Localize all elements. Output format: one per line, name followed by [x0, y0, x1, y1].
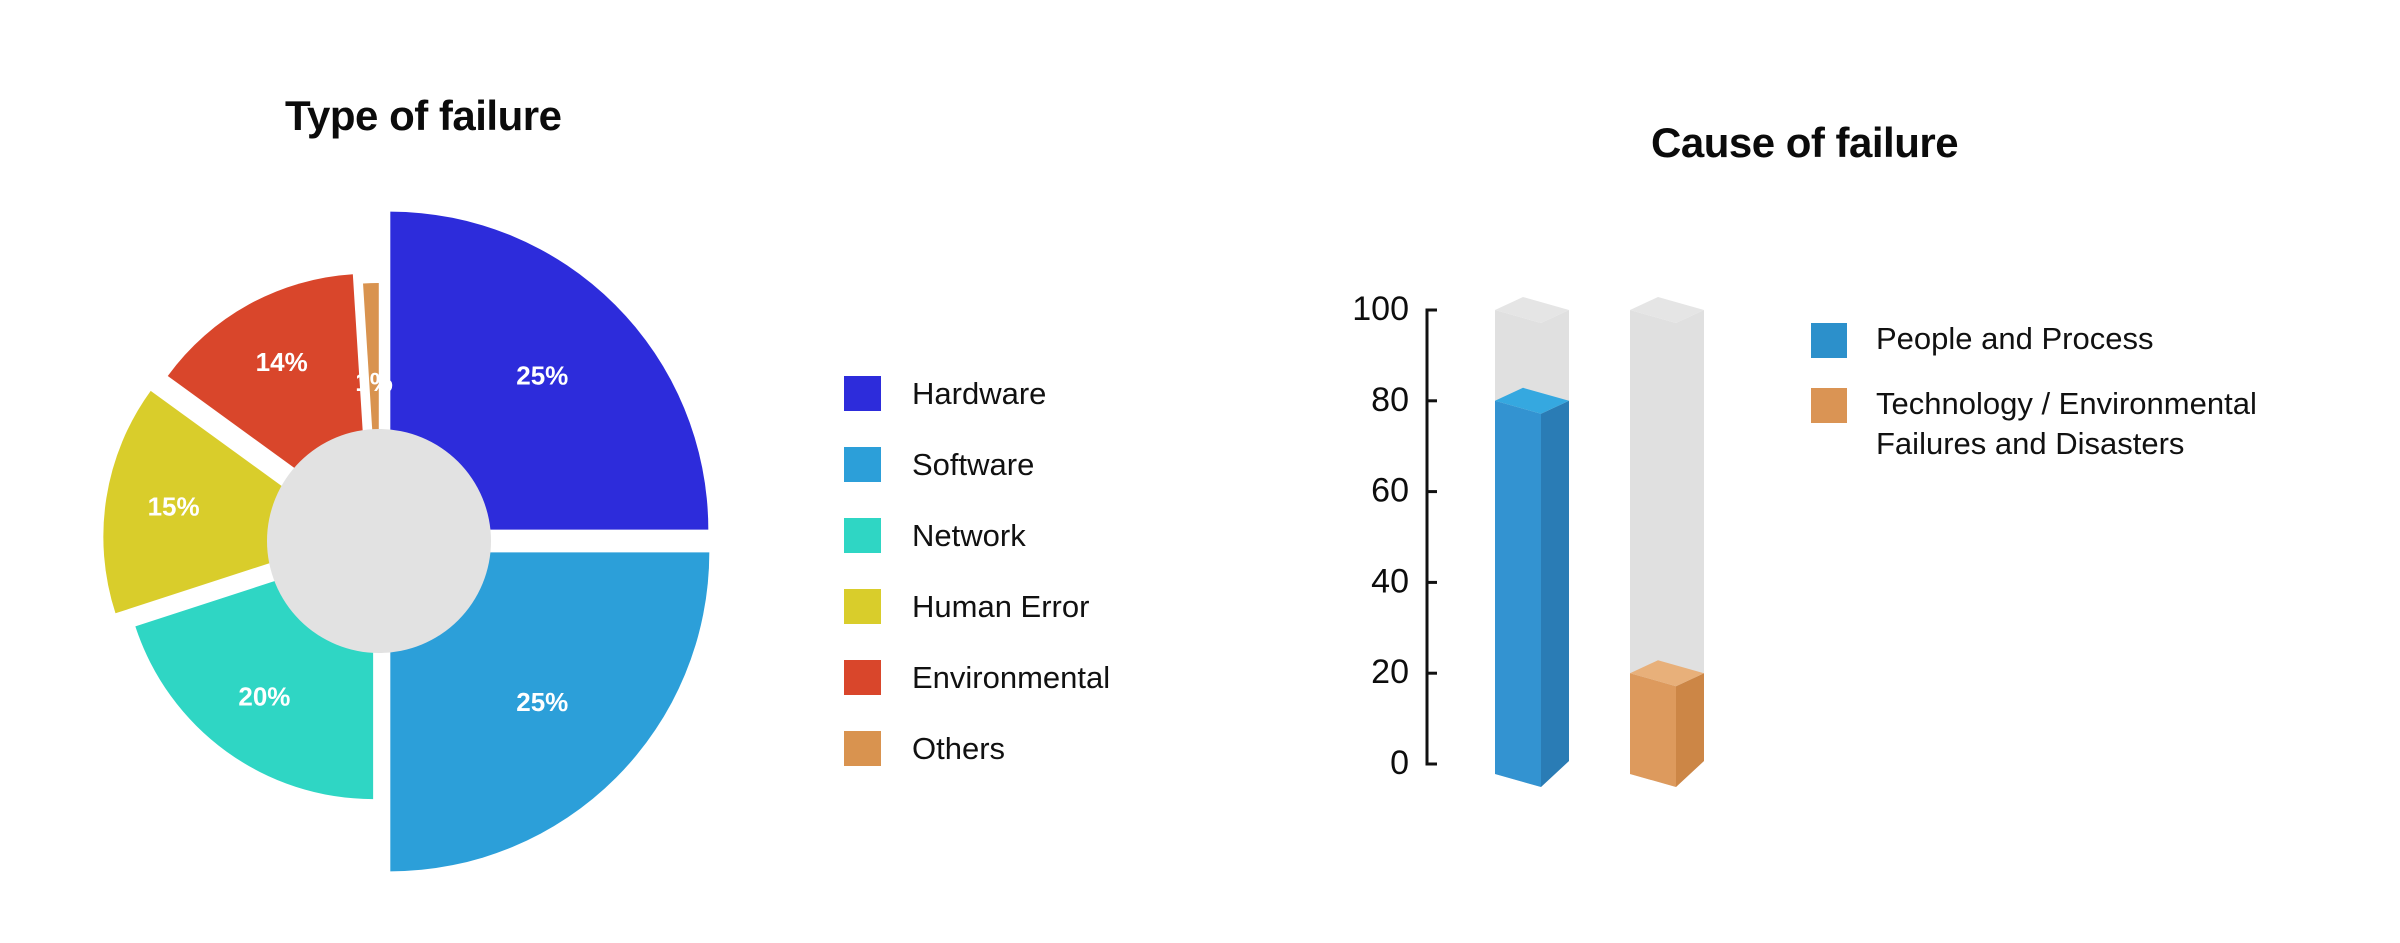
y-axis: [1427, 310, 1437, 764]
legend-label-software: Software: [912, 447, 1034, 483]
y-tick-label-60: 60: [1371, 472, 1409, 510]
legend-item-software[interactable]: Software: [844, 429, 1110, 500]
legend-swatch-software: [844, 447, 881, 482]
legend-item-others[interactable]: Others: [844, 713, 1110, 784]
legend-label-technology-environmental: Technology / Environmental Failures and …: [1876, 384, 2306, 463]
legend-item-environmental[interactable]: Environmental: [844, 642, 1110, 713]
legend-item-network[interactable]: Network: [844, 500, 1110, 571]
pie-slice-value-network: 20%: [238, 682, 290, 712]
y-tick-label-20: 20: [1371, 653, 1409, 691]
bar-legend: People and Process Technology / Environm…: [1811, 319, 2306, 489]
legend-item-hardware[interactable]: Hardware: [844, 358, 1110, 429]
bar-columns: [1495, 297, 1704, 787]
pie-slice-value-others: 1%: [355, 367, 393, 397]
y-tick-label-40: 40: [1371, 562, 1409, 600]
bar-value-1-side-face: [1541, 401, 1569, 787]
legend-label-people-and-process: People and Process: [1876, 319, 2153, 358]
legend-item-technology-environmental[interactable]: Technology / Environmental Failures and …: [1811, 384, 2306, 463]
legend-swatch-people-and-process: [1811, 323, 1847, 358]
y-axis-spine: [1427, 310, 1437, 764]
legend-swatch-technology-environmental: [1811, 388, 1847, 423]
pie-slice-value-hardware: 25%: [516, 361, 568, 391]
legend-swatch-environmental: [844, 660, 881, 695]
pie-slice-value-software: 25%: [516, 687, 568, 717]
type-of-failure-pie-chart: 25%25%20%15%14%1%: [0, 120, 860, 910]
y-tick-labels: 100806040200: [1352, 290, 1409, 782]
pie-legend: Hardware Software Network Human Error En…: [844, 358, 1110, 784]
bar-value-1[interactable]: [1495, 388, 1569, 787]
bar-value-2-side-face: [1676, 673, 1704, 787]
legend-swatch-network: [844, 518, 881, 553]
y-tick-label-100: 100: [1352, 290, 1409, 328]
legend-label-network: Network: [912, 518, 1026, 554]
bar-value-1-front-face: [1495, 401, 1541, 787]
legend-swatch-human-error: [844, 589, 881, 624]
bar-svg: 100806040200: [1300, 270, 1860, 800]
legend-item-human-error[interactable]: Human Error: [844, 571, 1110, 642]
donut-hole: [267, 429, 491, 653]
pie-slice-value-human-error: 15%: [148, 491, 200, 521]
figure-canvas: Type of failure 25%25%20%15%14%1% Hardwa…: [0, 0, 2400, 943]
y-tick-label-80: 80: [1371, 381, 1409, 419]
legend-label-environmental: Environmental: [912, 660, 1110, 696]
legend-swatch-hardware: [844, 376, 881, 411]
legend-label-hardware: Hardware: [912, 376, 1046, 412]
bar-chart-title: Cause of failure: [1651, 119, 1958, 167]
pie-slice-value-environmental: 14%: [256, 347, 308, 377]
legend-label-human-error: Human Error: [912, 589, 1089, 625]
cause-of-failure-bar-chart: 100806040200: [1300, 270, 1860, 800]
legend-label-others: Others: [912, 731, 1005, 767]
y-tick-label-0: 0: [1390, 744, 1409, 782]
legend-swatch-others: [844, 731, 881, 766]
bar-value-2[interactable]: [1630, 660, 1704, 787]
pie-svg: 25%25%20%15%14%1%: [0, 120, 860, 910]
bar-value-2-front-face: [1630, 673, 1676, 787]
legend-item-people-and-process[interactable]: People and Process: [1811, 319, 2306, 358]
